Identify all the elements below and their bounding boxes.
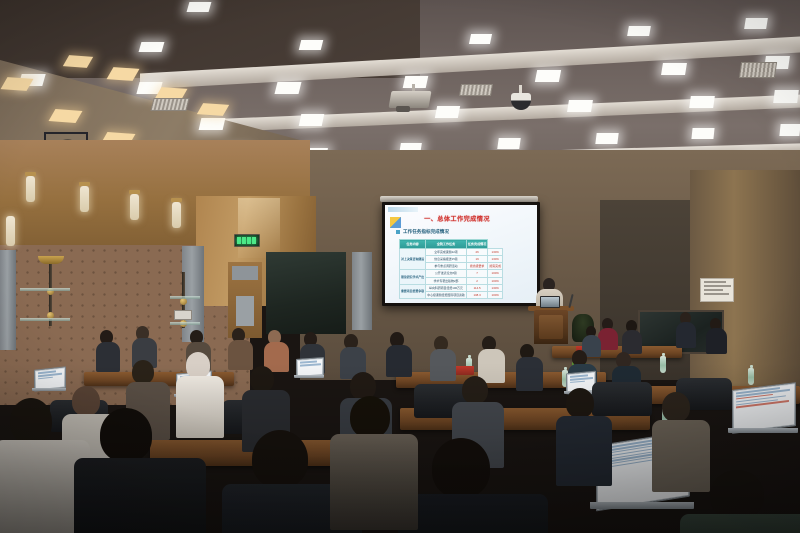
podium-front-panel <box>539 315 563 339</box>
table-col-1: 全院工作任务 <box>426 240 467 249</box>
slide-table: 任务内容 全院工作任务 任务完成情况 对上决策咨询建设 全年完成课题22项 26… <box>399 239 503 299</box>
row-task: 纵向科研项目经费100万元 <box>426 284 467 291</box>
body <box>516 357 543 391</box>
ceiling-projector-lens <box>396 106 410 112</box>
wall-sconce <box>130 194 139 220</box>
row-num: 19 <box>466 255 488 262</box>
slide-logo-icon <box>390 217 401 228</box>
body <box>74 458 206 533</box>
row-num: 按省级要求 <box>466 263 488 270</box>
ceiling-air-vent <box>739 62 777 78</box>
head <box>100 408 152 462</box>
row-pct: 100% <box>488 277 503 284</box>
slide-subtitle: 工作任务指标完成情况 <box>403 229 449 235</box>
table-row: 重要项目经费争取 纵向科研项目经费100万元 114.5 130% <box>400 284 503 291</box>
wall-pillar <box>352 252 372 330</box>
row-pct: 按需完成 <box>488 263 503 270</box>
exit-sign <box>234 234 260 247</box>
head <box>662 392 690 422</box>
head <box>350 396 390 438</box>
head <box>462 376 488 404</box>
head <box>250 366 274 392</box>
wall-sconce-cap <box>171 198 182 202</box>
glass-partition <box>266 252 346 334</box>
body <box>430 349 456 381</box>
glass-shelf <box>20 288 70 291</box>
ceiling-light <box>779 124 800 136</box>
head <box>566 388 594 418</box>
wall-sconce <box>26 176 35 202</box>
ceiling-projector <box>389 91 432 108</box>
row-pct: 130% <box>488 284 503 291</box>
body <box>706 328 727 354</box>
wall-sconce-cap <box>129 190 140 194</box>
body <box>556 416 612 486</box>
ceiling-light <box>497 138 521 149</box>
ceiling-light <box>691 128 714 139</box>
ceiling-light <box>187 2 212 12</box>
row-task: 信息采编报送15篇 <box>426 255 467 262</box>
ceiling-light <box>773 90 799 103</box>
row-task: 公开发表论文8篇 <box>426 270 467 277</box>
wall-sconce-cap <box>79 182 90 186</box>
body <box>652 420 710 492</box>
row-task: 参与重点调研活动 <box>426 263 467 270</box>
row-task: 全年完成课题22项 <box>426 248 467 255</box>
left-wood-column-gloss <box>238 198 280 258</box>
table-row: 对上决策咨询建设 全年完成课题22项 26 130% <box>400 248 503 255</box>
row-num: 108.3 <box>466 291 488 298</box>
water-bottle <box>660 356 666 373</box>
body <box>228 340 253 370</box>
wall-sconce <box>172 202 181 228</box>
table-col-2: 任务完成情况 <box>466 240 488 249</box>
ceiling-light <box>535 70 561 82</box>
water-bottle <box>748 368 754 385</box>
body <box>386 345 412 377</box>
table-row: 理论研究学术产出 公开发表论文8篇 7 100% <box>400 270 503 277</box>
row-label: 对上决策咨询建设 <box>400 248 426 270</box>
head <box>252 430 308 488</box>
ceiling-light <box>567 100 593 112</box>
head <box>132 360 154 384</box>
body <box>622 330 642 354</box>
row-task: 中心级课题经费国际项目资助 <box>426 291 467 298</box>
table-header-row: 任务内容 全院工作任务 任务完成情况 <box>400 240 503 249</box>
ceiling-light <box>661 63 687 75</box>
ceiling-light <box>469 34 492 44</box>
wall-outlet[interactable] <box>174 310 192 320</box>
row-pct: 130% <box>488 248 503 255</box>
presentation-slide: 一、总体工作完成情况 工作任务指标完成情况 任务内容 全院工作任务 任务完成情况… <box>385 205 537 303</box>
body <box>330 434 418 530</box>
slide-header-tag <box>388 207 418 212</box>
body <box>398 494 548 533</box>
row-num: 2 <box>466 277 488 284</box>
ceiling-light <box>689 96 715 108</box>
notice-sign <box>700 278 734 302</box>
row-label: 理论研究学术产出 <box>400 270 426 284</box>
ceiling-air-vent <box>459 84 493 96</box>
body <box>96 342 120 372</box>
podium-laptop <box>540 296 560 308</box>
projection-screen-frame: 一、总体工作完成情况 工作任务指标完成情况 任务内容 全院工作任务 任务完成情况… <box>382 202 540 306</box>
ceiling-light <box>744 18 768 29</box>
conference-room-photo: 一、总体工作完成情况 工作任务指标完成情况 任务内容 全院工作任务 任务完成情况… <box>0 0 800 533</box>
slide-title: 一、总体工作完成情况 <box>411 214 503 223</box>
wall-sconce <box>80 186 89 212</box>
row-pct: 130% <box>488 255 503 262</box>
door-handle-plate <box>236 296 254 326</box>
table-col-0: 任务内容 <box>400 240 426 249</box>
body <box>598 328 618 350</box>
wall-pillar <box>182 246 204 342</box>
row-pct: 100% <box>488 291 503 298</box>
head <box>432 438 490 498</box>
door-window <box>232 266 258 280</box>
row-label: 重要项目经费争取 <box>400 284 426 298</box>
ceiling-light <box>199 118 226 130</box>
ceiling-light <box>403 76 429 88</box>
ceiling-light <box>299 114 325 126</box>
glass-shelf <box>170 322 200 325</box>
wall-pillar <box>0 250 16 350</box>
row-pct: 100% <box>488 270 503 277</box>
ceiling-light <box>595 133 618 144</box>
ceiling-light <box>299 40 323 50</box>
row-task: 学术专著出版物2部 <box>426 277 467 284</box>
glass-shelf <box>170 296 200 299</box>
ceiling-air-vent <box>150 98 189 111</box>
row-num: 26 <box>466 248 488 255</box>
wall-sconce <box>6 216 15 246</box>
body <box>676 322 696 348</box>
body <box>176 376 224 438</box>
ceiling-light <box>627 26 651 36</box>
ceiling-light <box>139 42 165 52</box>
body <box>680 514 800 533</box>
head <box>710 470 764 520</box>
glass-shelf <box>20 318 70 321</box>
ceiling-light <box>275 82 302 94</box>
head <box>10 398 52 444</box>
chair[interactable] <box>592 382 652 416</box>
row-num: 7 <box>466 270 488 277</box>
wall-sconce-cap <box>25 172 36 176</box>
head <box>72 386 100 416</box>
ceiling-light <box>435 106 460 118</box>
head-hat <box>186 352 210 378</box>
row-num: 114.5 <box>466 284 488 291</box>
